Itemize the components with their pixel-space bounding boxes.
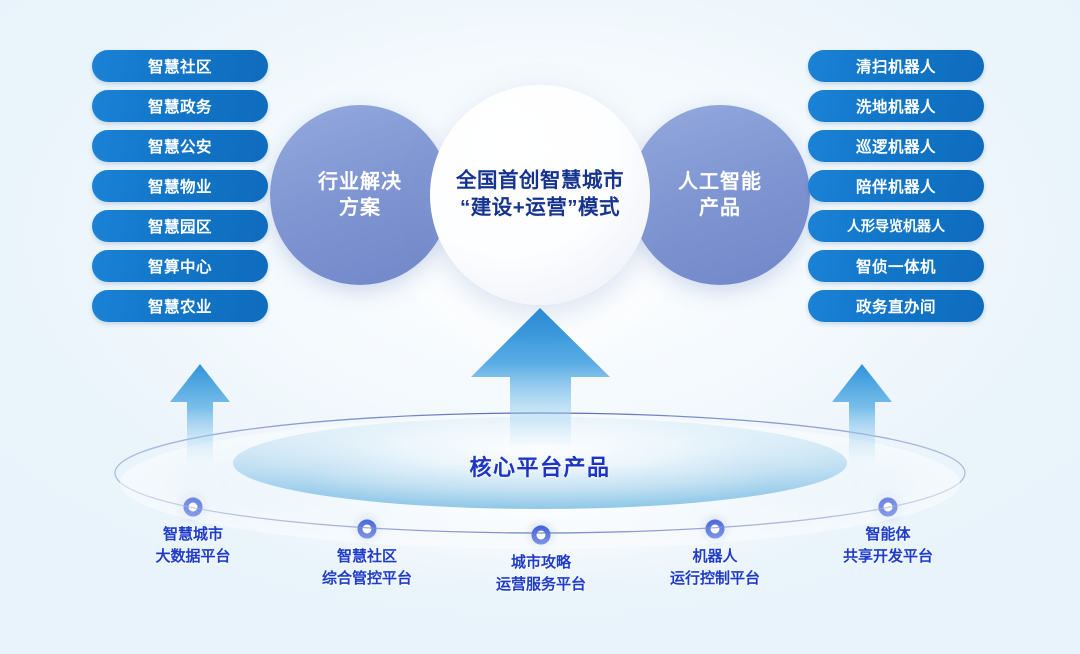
pill-product-6[interactable]: 政务直办间	[808, 290, 984, 322]
circle-center-line1: 全国首创智慧城市	[456, 168, 624, 195]
pill-industry-0[interactable]: 智慧社区	[92, 50, 268, 82]
pill-product-5[interactable]: 智侦一体机	[808, 250, 984, 282]
core-platform-label: 核心平台产品	[0, 450, 1080, 482]
pill-product-2[interactable]: 巡逻机器人	[808, 130, 984, 162]
diagram-canvas: 智慧社区 智慧政务 智慧公安 智慧物业 智慧园区 智算中心 智慧农业 清扫机器人…	[0, 0, 1080, 654]
pill-industry-4[interactable]: 智慧园区	[92, 210, 268, 242]
circle-center-line2: “建设+运营”模式	[456, 195, 624, 222]
circle-right-line2: 产品	[678, 195, 762, 221]
pill-industry-5[interactable]: 智算中心	[92, 250, 268, 282]
pill-product-1[interactable]: 洗地机器人	[808, 90, 984, 122]
circle-left-line2: 方案	[318, 195, 402, 221]
pill-industry-1[interactable]: 智慧政务	[92, 90, 268, 122]
pill-industry-3[interactable]: 智慧物业	[92, 170, 268, 202]
pill-product-0[interactable]: 清扫机器人	[808, 50, 984, 82]
circle-industry-solutions[interactable]: 行业解决 方案	[270, 105, 450, 285]
left-pill-column: 智慧社区 智慧政务 智慧公安 智慧物业 智慧园区 智算中心 智慧农业	[92, 50, 268, 322]
circle-ai-products[interactable]: 人工智能 产品	[630, 105, 810, 285]
pill-product-4[interactable]: 人形导览机器人	[808, 210, 984, 242]
pill-industry-6[interactable]: 智慧农业	[92, 290, 268, 322]
right-pill-column: 清扫机器人 洗地机器人 巡逻机器人 陪伴机器人 人形导览机器人 智侦一体机 政务…	[808, 50, 984, 322]
arrow-up-icon-center	[468, 305, 613, 460]
pill-product-3[interactable]: 陪伴机器人	[808, 170, 984, 202]
circle-core-model[interactable]: 全国首创智慧城市 “建设+运营”模式	[430, 85, 650, 305]
circle-right-line1: 人工智能	[678, 169, 762, 195]
pill-industry-2[interactable]: 智慧公安	[92, 130, 268, 162]
circle-left-line1: 行业解决	[318, 169, 402, 195]
